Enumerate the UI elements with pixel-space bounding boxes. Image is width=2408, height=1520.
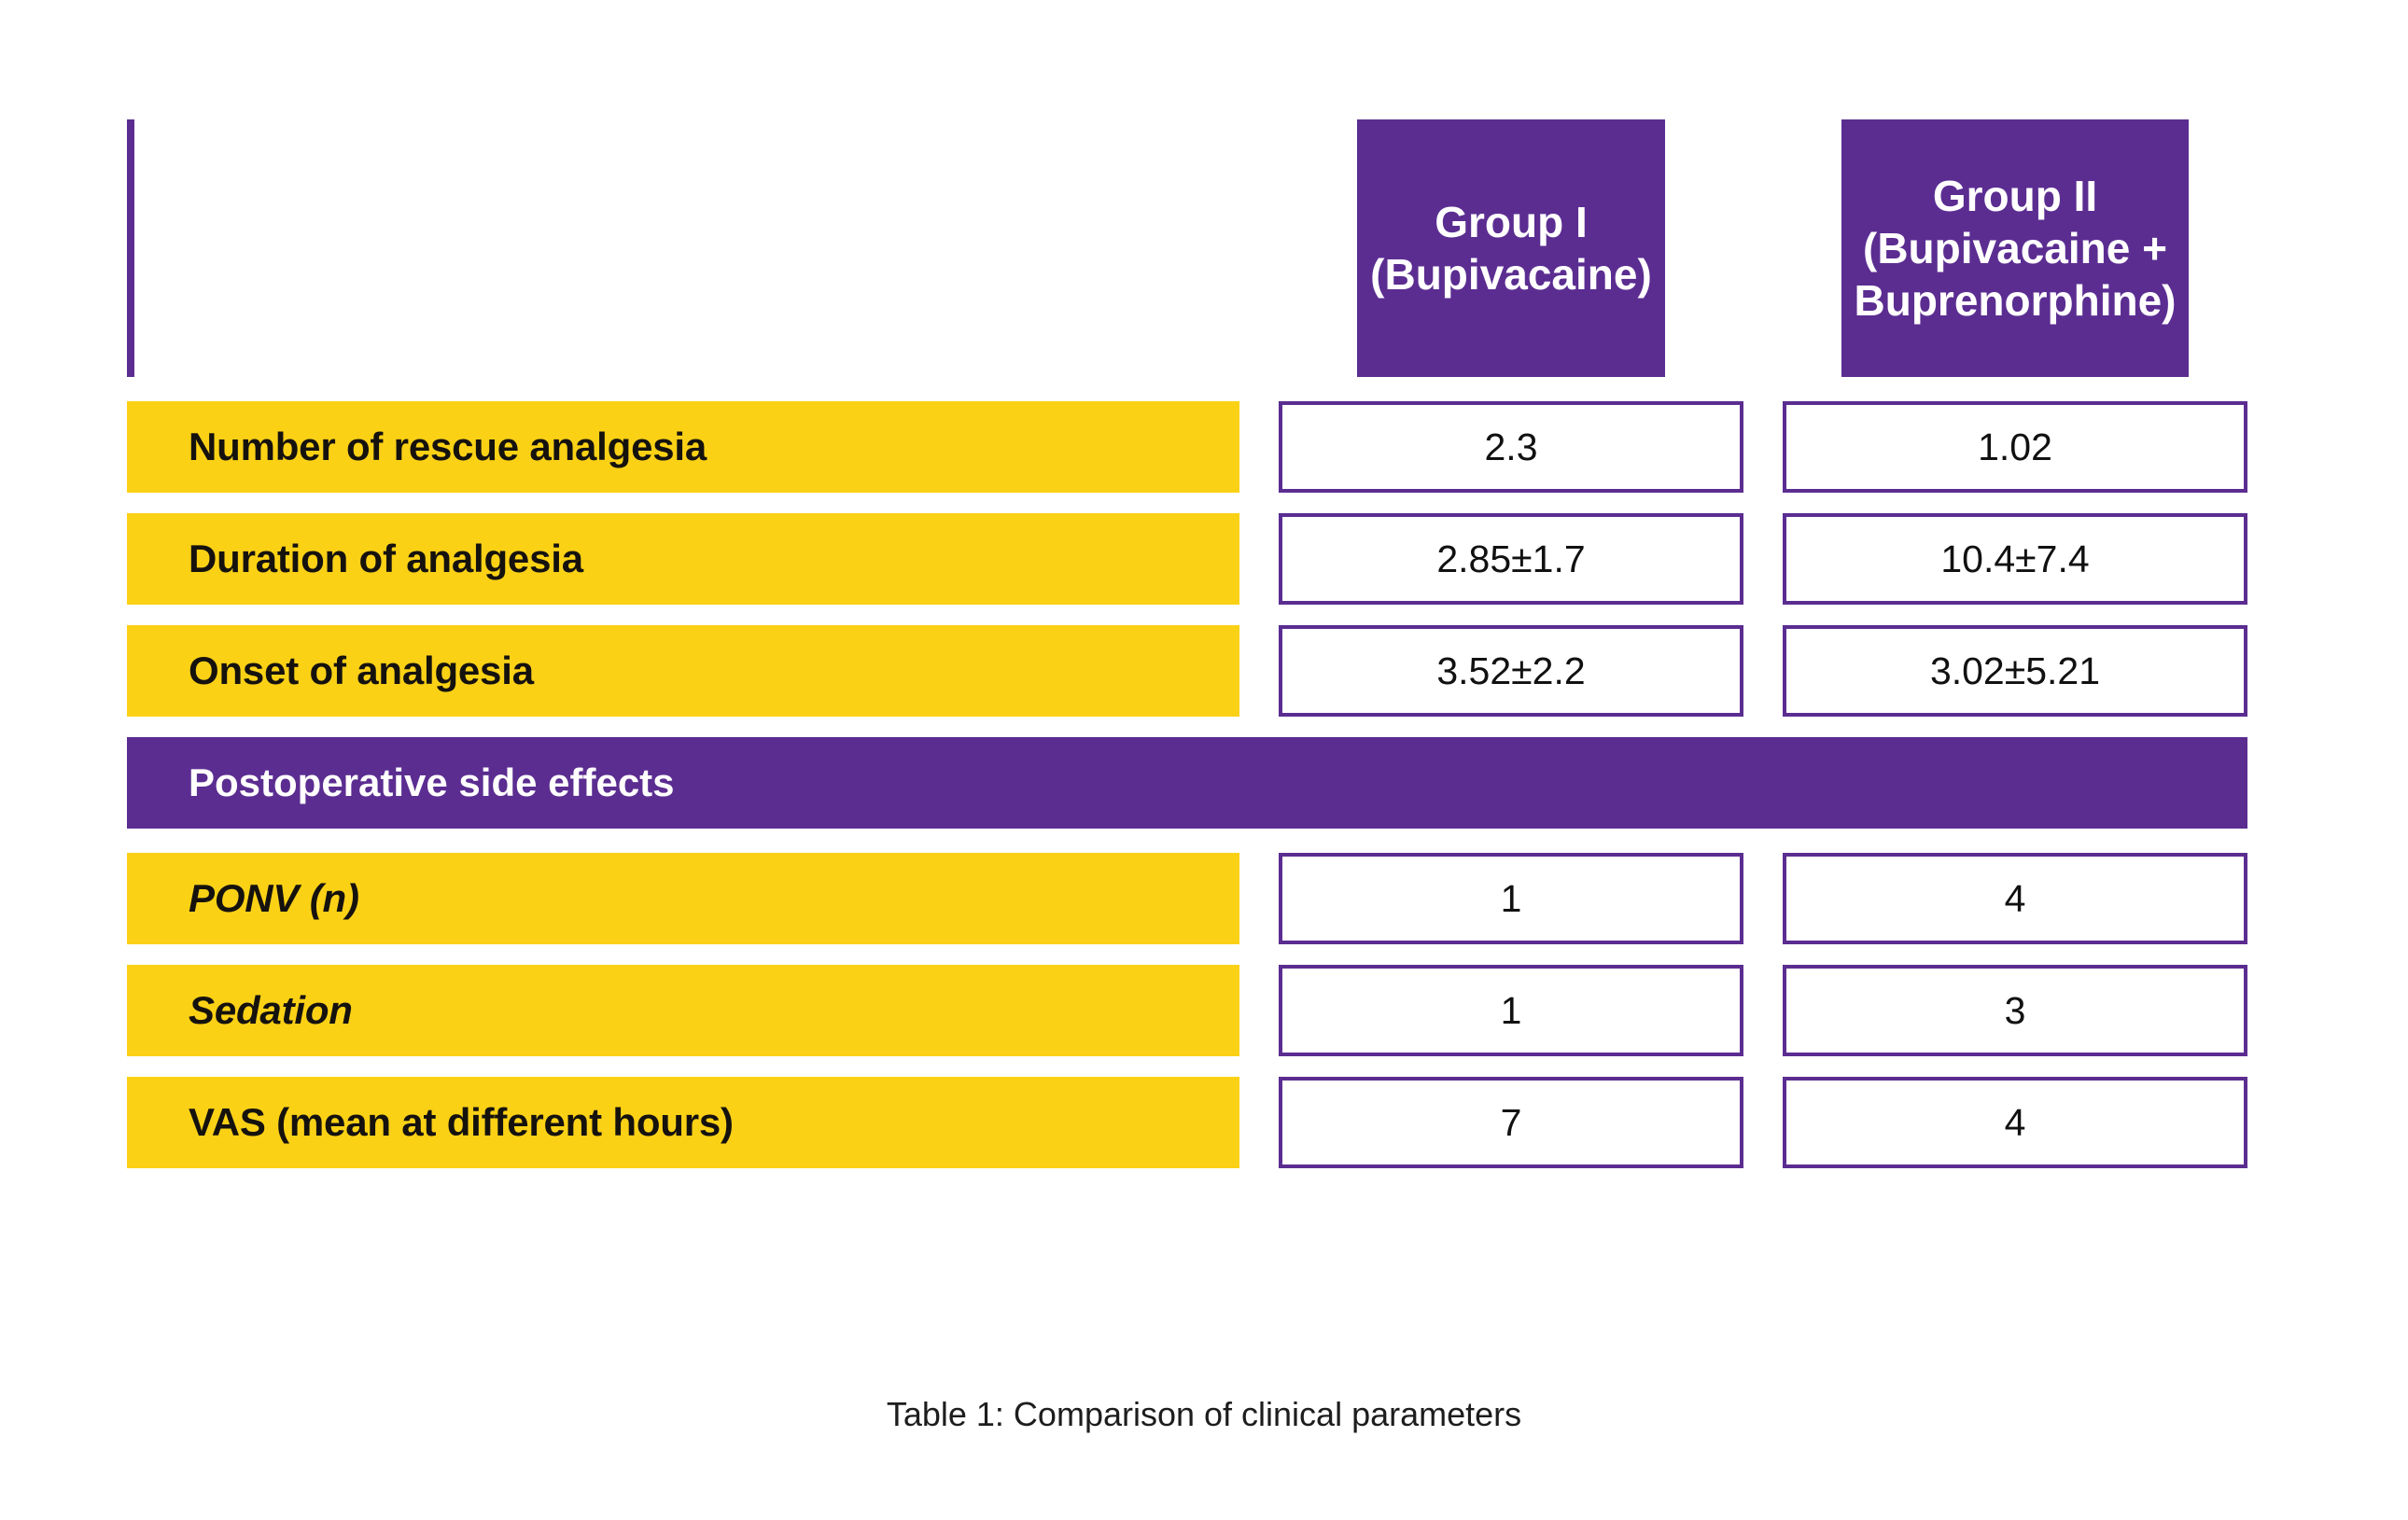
- row-value-group-1: 2.85±1.7: [1279, 513, 1743, 605]
- column-gap: [1743, 853, 1783, 944]
- header-cell-group-1: Group I (Bupivacaine): [1279, 119, 1743, 377]
- row-value-group-2: 4: [1783, 1077, 2247, 1168]
- column-gap: [1239, 625, 1279, 717]
- table-row: Sedation 1 3: [127, 965, 2247, 1056]
- table-row: VAS (mean at different hours) 7 4: [127, 1077, 2247, 1168]
- row-value-cell-group-1: 3.52±2.2: [1279, 625, 1743, 717]
- column-gap: [1239, 1077, 1279, 1168]
- row-value-cell-group-1: 1: [1279, 853, 1743, 944]
- row-label-cell: Number of rescue analgesia: [127, 401, 1239, 493]
- header-group-1-line-1: Group I: [1435, 198, 1588, 246]
- column-gap: [1239, 513, 1279, 605]
- table-row: Onset of analgesia 3.52±2.2 3.02±5.21: [127, 625, 2247, 717]
- header-corner-cell: [127, 119, 1239, 377]
- header-group-1-line-2: (Bupivacaine): [1370, 250, 1652, 299]
- row-value-group-2: 3.02±5.21: [1783, 625, 2247, 717]
- section-header-row: Postoperative side effects: [127, 737, 2247, 829]
- row-label-cell: Duration of analgesia: [127, 513, 1239, 605]
- row-label: Duration of analgesia: [127, 513, 1239, 605]
- row-value-group-2: 1.02: [1783, 401, 2247, 493]
- header-cell-group-2: Group II (Bupivacaine + Buprenorphine): [1783, 119, 2247, 377]
- row-value-group-1: 2.3: [1279, 401, 1743, 493]
- header-group-2-line-1: Group II: [1933, 172, 2097, 220]
- header-group-2-line-3: Buprenorphine): [1855, 276, 2177, 325]
- row-label: VAS (mean at different hours): [127, 1077, 1239, 1168]
- column-gap: [1239, 853, 1279, 944]
- row-value-cell-group-2: 10.4±7.4: [1783, 513, 2247, 605]
- table-header-row: Group I (Bupivacaine) Group II (Bupivaca…: [127, 119, 2247, 377]
- row-value-cell-group-2: 4: [1783, 1077, 2247, 1168]
- row-value-cell-group-1: 2.3: [1279, 401, 1743, 493]
- column-gap: [1239, 401, 1279, 493]
- column-gap: [1239, 965, 1279, 1056]
- row-label: Sedation: [127, 965, 1239, 1056]
- row-label-cell: VAS (mean at different hours): [127, 1077, 1239, 1168]
- row-value-cell-group-2: 3: [1783, 965, 2247, 1056]
- row-value-group-1: 7: [1279, 1077, 1743, 1168]
- row-value-cell-group-1: 2.85±1.7: [1279, 513, 1743, 605]
- row-value-group-2: 10.4±7.4: [1783, 513, 2247, 605]
- row-value-group-2: 3: [1783, 965, 2247, 1056]
- column-gap: [1743, 625, 1783, 717]
- row-label: PONV (n): [127, 853, 1239, 944]
- row-value-cell-group-2: 1.02: [1783, 401, 2247, 493]
- row-value-cell-group-1: 7: [1279, 1077, 1743, 1168]
- row-value-cell-group-1: 1: [1279, 965, 1743, 1056]
- row-value-group-1: 1: [1279, 853, 1743, 944]
- header-group-2-content: Group II (Bupivacaine + Buprenorphine): [1841, 119, 2190, 377]
- row-label-cell: Sedation: [127, 965, 1239, 1056]
- table-row: PONV (n) 1 4: [127, 853, 2247, 944]
- row-label: Onset of analgesia: [127, 625, 1239, 717]
- row-value-cell-group-2: 3.02±5.21: [1783, 625, 2247, 717]
- clinical-parameters-table: Group I (Bupivacaine) Group II (Bupivaca…: [127, 119, 2247, 1189]
- row-label-cell: Onset of analgesia: [127, 625, 1239, 717]
- row-value-group-1: 3.52±2.2: [1279, 625, 1743, 717]
- section-header-label: Postoperative side effects: [127, 737, 2247, 829]
- column-gap: [1743, 119, 1783, 377]
- row-value-group-1: 1: [1279, 965, 1743, 1056]
- header-corner-blank: [127, 119, 134, 377]
- row-label-cell: PONV (n): [127, 853, 1239, 944]
- table-caption: Table 1: Comparison of clinical paramete…: [0, 1395, 2408, 1434]
- column-gap: [1743, 513, 1783, 605]
- column-gap: [1239, 119, 1279, 377]
- header-group-2-line-2: (Bupivacaine +: [1863, 224, 2167, 272]
- row-label: Number of rescue analgesia: [127, 401, 1239, 493]
- column-gap: [1743, 401, 1783, 493]
- row-value-group-2: 4: [1783, 853, 2247, 944]
- table-row: Number of rescue analgesia 2.3 1.02: [127, 401, 2247, 493]
- table-row: Duration of analgesia 2.85±1.7 10.4±7.4: [127, 513, 2247, 605]
- row-value-cell-group-2: 4: [1783, 853, 2247, 944]
- header-group-1-content: Group I (Bupivacaine): [1357, 119, 1665, 377]
- column-gap: [1743, 965, 1783, 1056]
- column-gap: [1743, 1077, 1783, 1168]
